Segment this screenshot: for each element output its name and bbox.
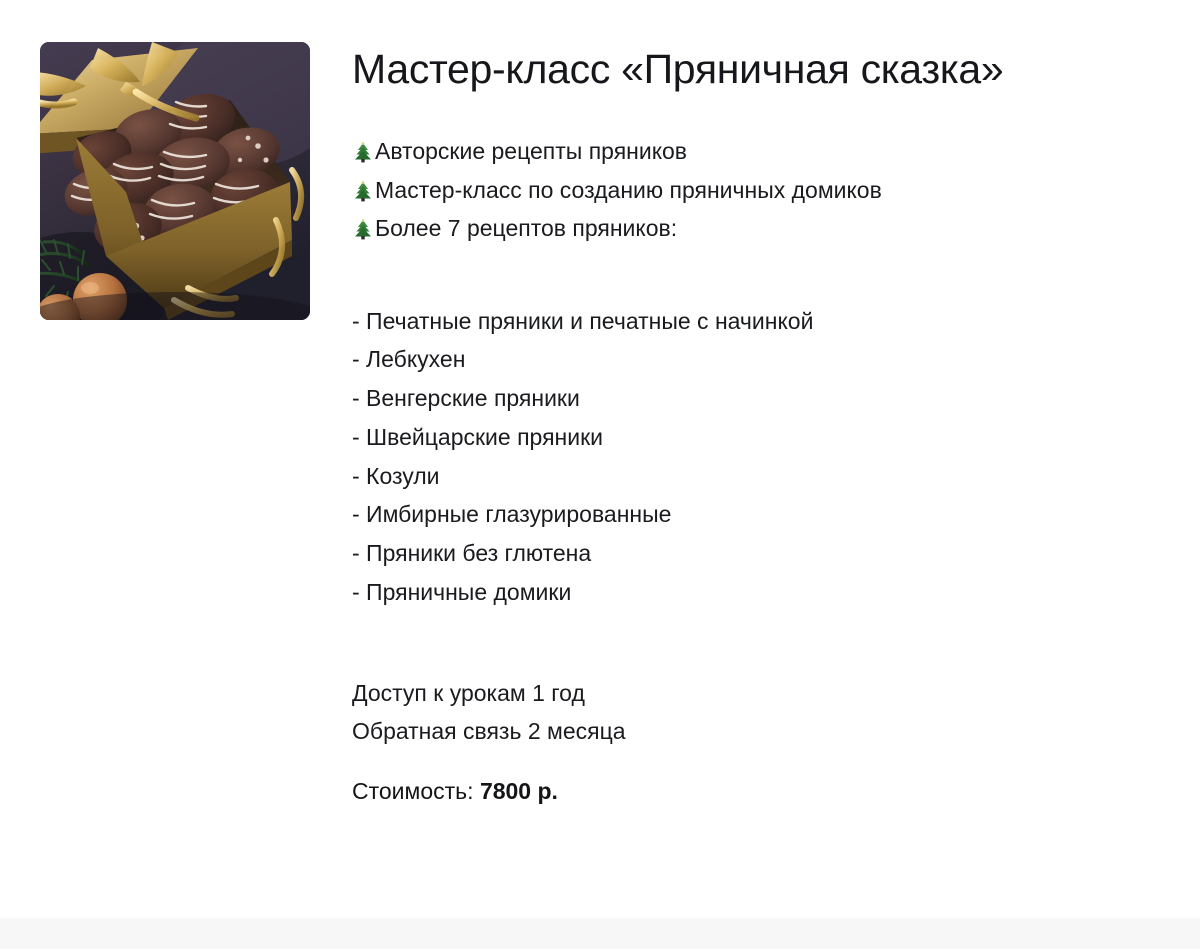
christmas-tree-icon [352,171,374,210]
recipe-list-item: - Пряники без глютена [352,534,1160,573]
christmas-tree-icon [352,209,374,248]
feature-label: Мастер-класс по созданию пряничных домик… [375,171,882,210]
recipe-list-item: - Печатные пряники и печатные с начинкой [352,302,1160,341]
feature-list-item: Более 7 рецептов пряников: [352,209,1160,248]
recipe-list-item: - Козули [352,457,1160,496]
price-value: 7800 р. [480,778,558,804]
terms-access-line: Доступ к урокам 1 год [352,674,1160,713]
product-image-container [40,42,310,320]
price-label: Стоимость: [352,778,474,804]
feature-list-item: Авторские рецепты пряников [352,132,1160,171]
price-block: Стоимость: 7800 р. [352,774,1160,808]
christmas-tree-icon [352,132,374,171]
feature-list-item: Мастер-класс по созданию пряничных домик… [352,171,1160,210]
offer-content: Мастер-класс «Пряничная сказка» Авторски… [0,0,1200,808]
terms-block: Доступ к урокам 1 год Обратная связь 2 м… [352,674,1160,751]
recipe-list-item: - Швейцарские пряники [352,418,1160,457]
offer-text-column: Мастер-класс «Пряничная сказка» Авторски… [352,42,1160,808]
recipe-list-item: - Имбирные глазурированные [352,495,1160,534]
recipe-list-item: - Венгерские пряники [352,379,1160,418]
feature-label: Более 7 рецептов пряников: [375,209,677,248]
course-offer-page: Мастер-класс «Пряничная сказка» Авторски… [0,0,1200,949]
feature-list: Авторские рецепты пряников Мастер-класс … [352,132,1160,248]
page-title: Мастер-класс «Пряничная сказка» [352,44,1160,94]
recipe-list-item: - Лебкухен [352,340,1160,379]
terms-feedback-line: Обратная связь 2 месяца [352,712,1160,751]
recipe-list: - Печатные пряники и печатные с начинкой… [352,302,1160,612]
page-footer-strip [0,918,1200,949]
feature-label: Авторские рецепты пряников [375,132,687,171]
recipe-list-item: - Пряничные домики [352,573,1160,612]
gingerbread-gift-box-photo [40,42,310,320]
